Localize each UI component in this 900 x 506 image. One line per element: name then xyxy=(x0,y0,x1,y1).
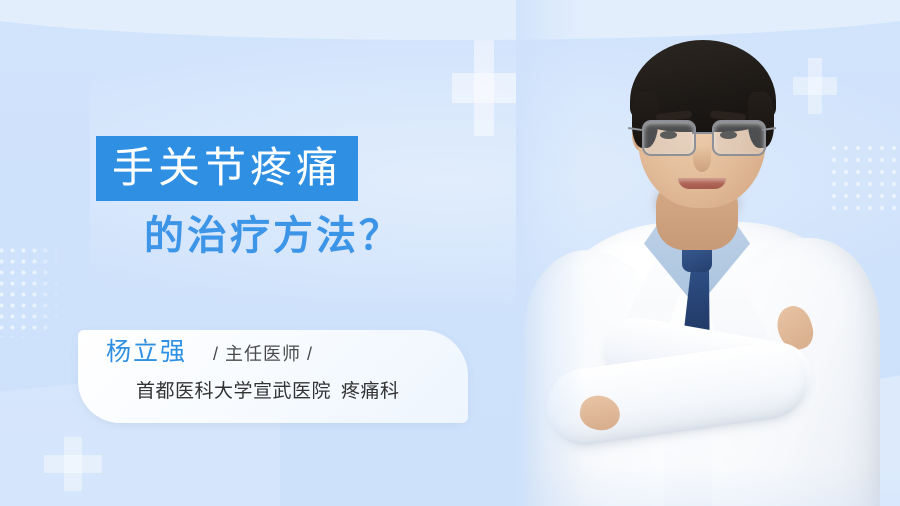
doctor-info-card: 杨立强 / 主任医师 / 首都医科大学宣武医院疼痛科 xyxy=(78,330,468,423)
portrait-bottom-blend xyxy=(516,466,900,506)
headline-block: 手关节疼痛 的治疗方法？ xyxy=(96,136,456,256)
headline-primary: 手关节疼痛 xyxy=(96,136,358,201)
doctor-name: 杨立强 xyxy=(106,340,187,365)
doctor-affiliation-row: 首都医科大学宣武医院疼痛科 xyxy=(136,382,400,401)
portrait-edge-blend xyxy=(516,0,900,506)
doctor-portrait xyxy=(516,0,900,506)
hospital-name: 首都医科大学宣武医院 xyxy=(136,381,331,402)
department-name: 疼痛科 xyxy=(341,381,400,402)
video-cover: 手关节疼痛 的治疗方法？ 杨立强 / 主任医师 / 首都医科大学宣武医院疼痛科 xyxy=(0,0,900,506)
doctor-title: / 主任医师 / xyxy=(213,345,313,363)
headline-secondary: 的治疗方法？ xyxy=(144,216,456,256)
doctor-identity-row: 杨立强 / 主任医师 / xyxy=(106,340,313,365)
